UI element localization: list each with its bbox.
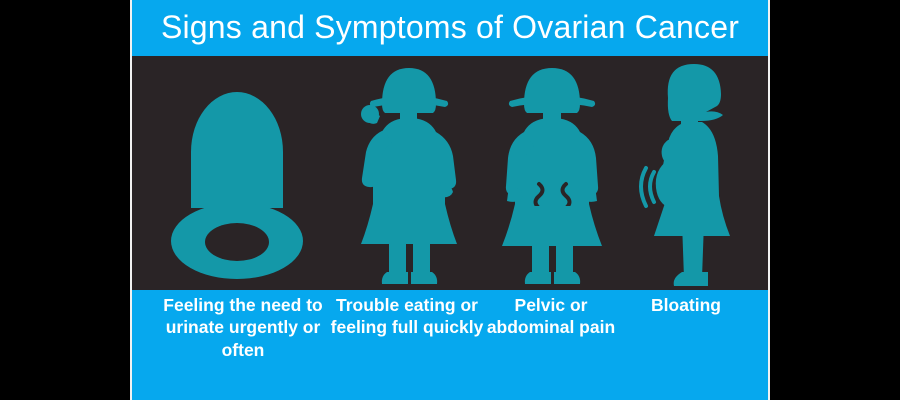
caption-trouble-eating: Trouble eating or feeling full quickly: [328, 294, 486, 339]
page-title: Signs and Symptoms of Ovarian Cancer: [161, 11, 739, 46]
caption-band: Feeling the need to urinate urgently or …: [132, 290, 768, 400]
woman-bloated-profile-icon: [624, 56, 768, 290]
toilet-icon: [142, 56, 332, 290]
title-bar: Signs and Symptoms of Ovarian Cancer: [132, 0, 768, 56]
caption-bloating: Bloating: [616, 294, 756, 316]
infographic-card: Signs and Symptoms of Ovarian Cancer: [132, 0, 768, 400]
figure-woman-bloating: [624, 56, 768, 290]
figure-woman-pelvic-pain: [480, 56, 625, 290]
illustration-panel: [132, 56, 768, 290]
woman-hands-on-hips-icon: [480, 56, 625, 290]
figure-toilet: [142, 56, 332, 290]
caption-pelvic-pain: Pelvic or abdominal pain: [486, 294, 616, 339]
caption-urinary-urgency: Feeling the need to urinate urgently or …: [158, 294, 328, 361]
figure-woman-eating: [337, 56, 482, 290]
poster-root: Signs and Symptoms of Ovarian Cancer: [0, 0, 900, 400]
woman-eating-icon: [337, 56, 482, 290]
